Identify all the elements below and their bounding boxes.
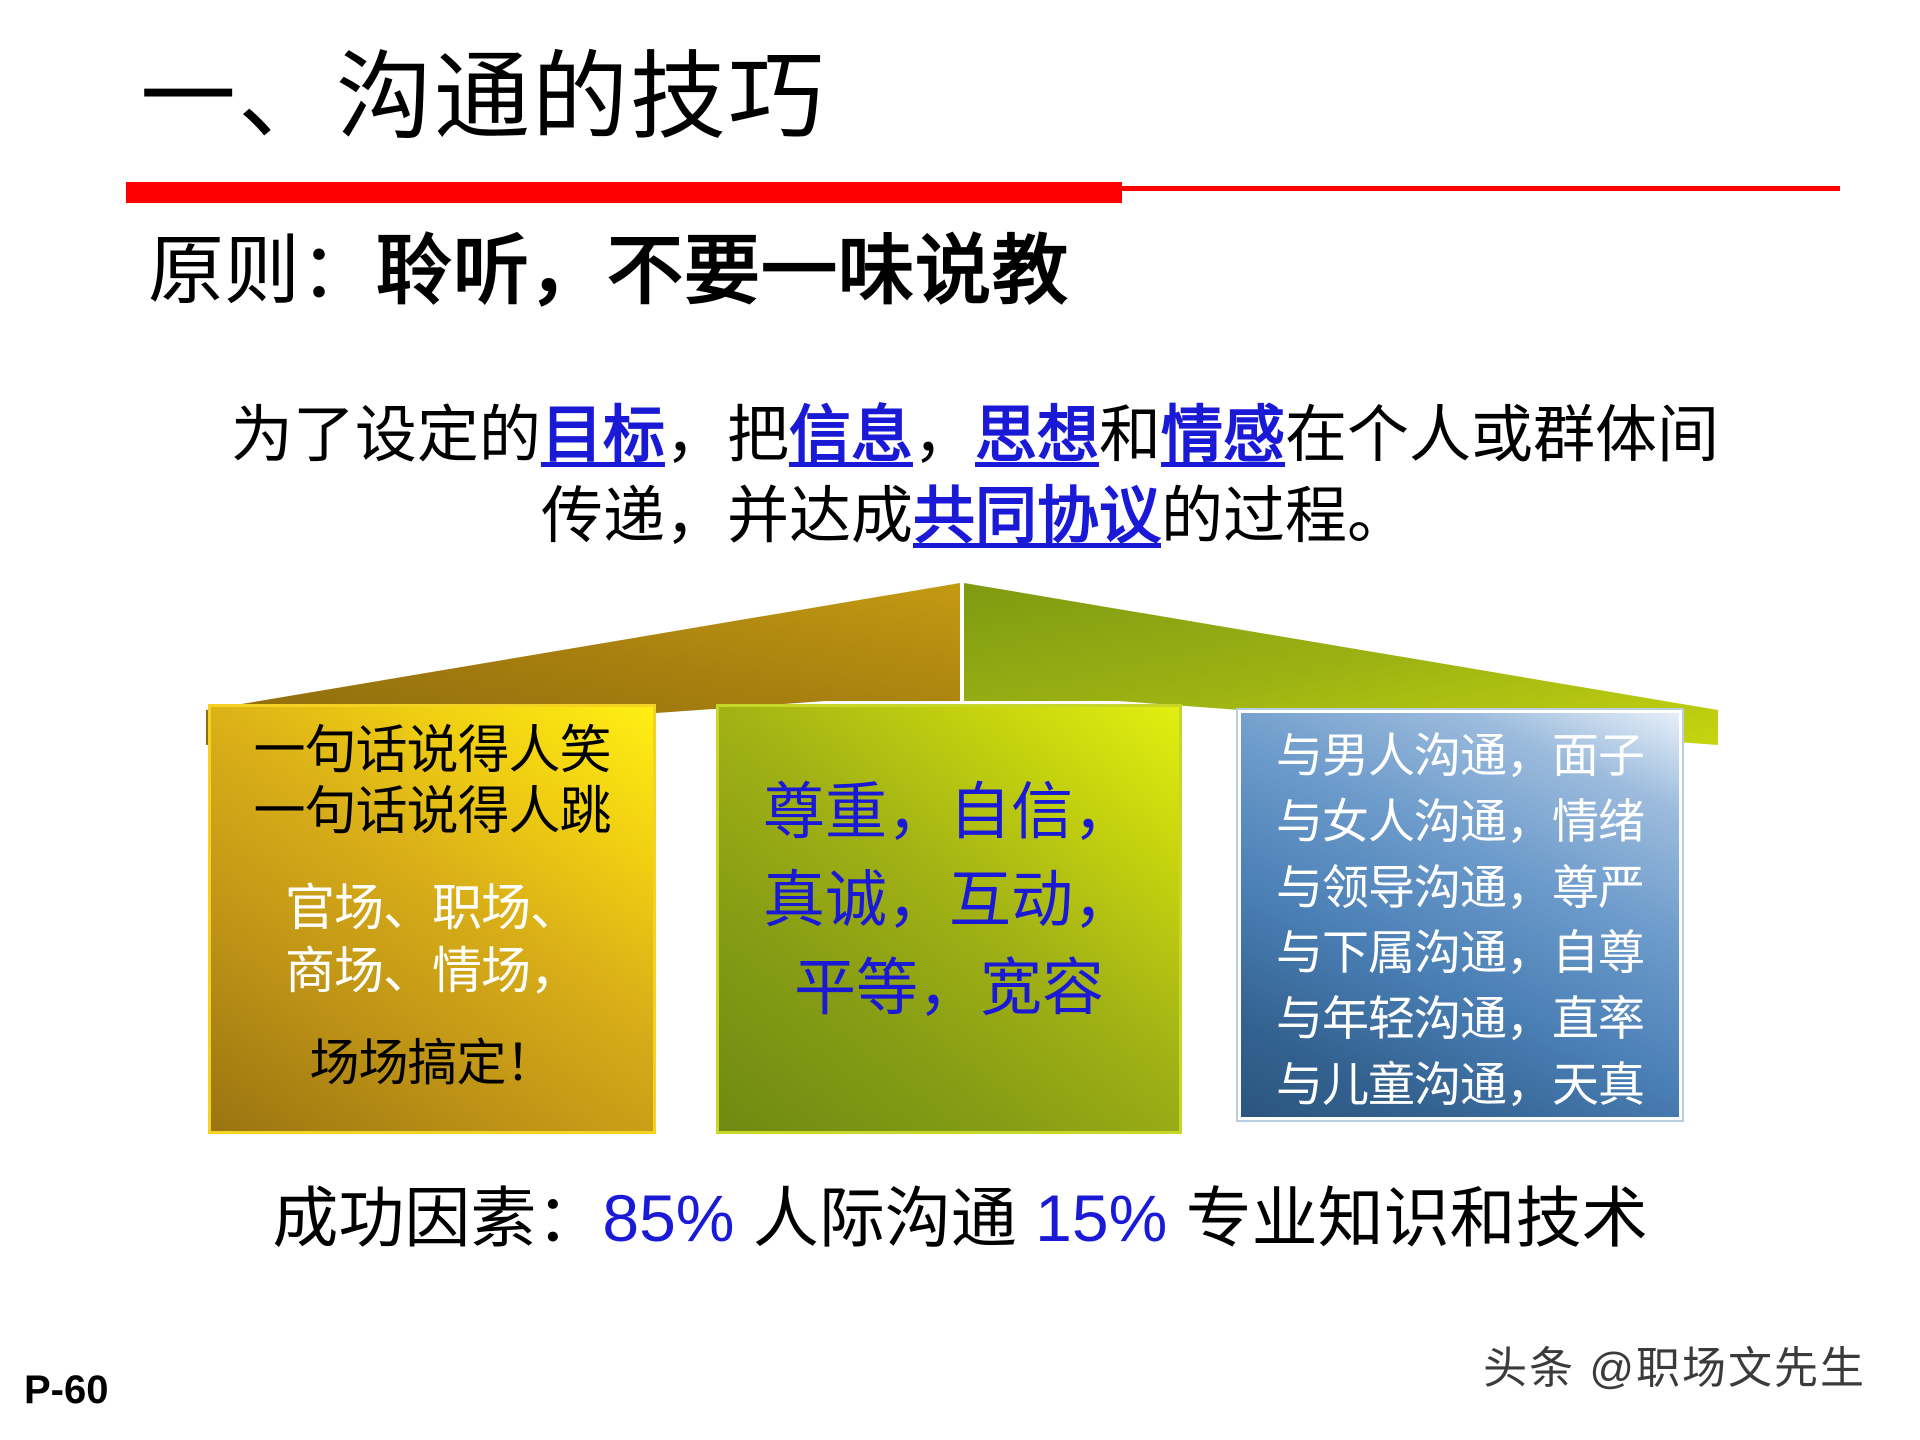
title-rule-thin: [1122, 186, 1840, 191]
keyword-information: 信息: [789, 401, 913, 470]
page-number-label: P-60: [24, 1368, 109, 1413]
keyword-goal: 目标: [541, 401, 665, 470]
blue-line-6: 与儿童沟通，天真: [1241, 1052, 1679, 1118]
olive-line-3: 平等，宽容: [719, 945, 1179, 1033]
title-rule-thick: [126, 182, 1122, 203]
success-pct-major: 85%: [602, 1181, 734, 1255]
success-label: 成功因素：: [272, 1181, 602, 1255]
para-text-3: ，: [913, 401, 975, 470]
principle-emphasis: 聆听，不要一味说教: [376, 229, 1069, 314]
watermark-label: 头条 @职场文先生: [1483, 1332, 1866, 1396]
keyword-emotion: 情感: [1161, 401, 1285, 470]
gold-box-top-text: 一句话说得人笑 一句话说得人跳: [211, 721, 653, 844]
blue-box: 与男人沟通，面子 与女人沟通，情绪 与领导沟通，尊严 与下属沟通，自尊 与年轻沟…: [1238, 710, 1682, 1120]
principle-line: 原则：聆听，不要一味说教: [148, 228, 1069, 315]
gold-box-last-text: 场场搞定！: [211, 1032, 653, 1095]
olive-line-1: 尊重，自信，: [719, 769, 1179, 857]
olive-box-text: 尊重，自信， 真诚，互动， 平等，宽容: [719, 769, 1179, 1033]
blue-line-5: 与年轻沟通，直率: [1241, 986, 1679, 1052]
definition-paragraph: 为了设定的目标，把信息，思想和情感在个人或群体间传递，并达成共同协议的过程。: [210, 396, 1740, 557]
page-title: 一、沟通的技巧: [140, 48, 826, 149]
gold-line-1: 一句话说得人笑: [211, 721, 653, 782]
olive-box: 尊重，自信， 真诚，互动， 平等，宽容: [716, 704, 1182, 1134]
para-text-1: 为了设定的: [231, 401, 541, 470]
blue-box-text: 与男人沟通，面子 与女人沟通，情绪 与领导沟通，尊严 与下属沟通，自尊 与年轻沟…: [1241, 723, 1679, 1118]
gold-line-2: 一句话说得人跳: [211, 782, 653, 843]
gold-box-bottom-text: 官场、职场、 商场、情场，: [211, 877, 653, 1003]
boxes-row: 一句话说得人笑 一句话说得人跳 官场、职场、 商场、情场， 场场搞定！ 尊重，自…: [0, 700, 1920, 1160]
success-pct-minor: 15%: [1035, 1181, 1167, 1255]
principle-lead: 原则：: [148, 229, 376, 314]
success-text-minor: 专业知识和技术: [1186, 1181, 1648, 1255]
keyword-thought: 思想: [975, 401, 1099, 470]
slide-canvas: 一、沟通的技巧 原则：聆听，不要一味说教 为了设定的目标，把信息，思想和情感在个…: [0, 0, 1920, 1440]
gold-line-3: 官场、职场、: [211, 877, 653, 940]
success-factors-line: 成功因素：85% 人际沟通 15% 专业知识和技术: [0, 1165, 1920, 1261]
gold-box: 一句话说得人笑 一句话说得人跳 官场、职场、 商场、情场， 场场搞定！: [208, 704, 656, 1134]
blue-line-1: 与男人沟通，面子: [1241, 723, 1679, 789]
success-text-major: 人际沟通: [753, 1181, 1017, 1255]
olive-line-2: 真诚，互动，: [719, 857, 1179, 945]
gold-line-4: 商场、情场，: [211, 940, 653, 1003]
keyword-agreement: 共同协议: [913, 482, 1161, 551]
gold-line-5: 场场搞定！: [211, 1032, 653, 1095]
para-text-4: 和: [1099, 401, 1161, 470]
para-text-6: 的过程。: [1161, 482, 1409, 551]
blue-line-3: 与领导沟通，尊严: [1241, 855, 1679, 921]
blue-line-2: 与女人沟通，情绪: [1241, 789, 1679, 855]
blue-line-4: 与下属沟通，自尊: [1241, 920, 1679, 986]
para-text-2: ，把: [665, 401, 789, 470]
